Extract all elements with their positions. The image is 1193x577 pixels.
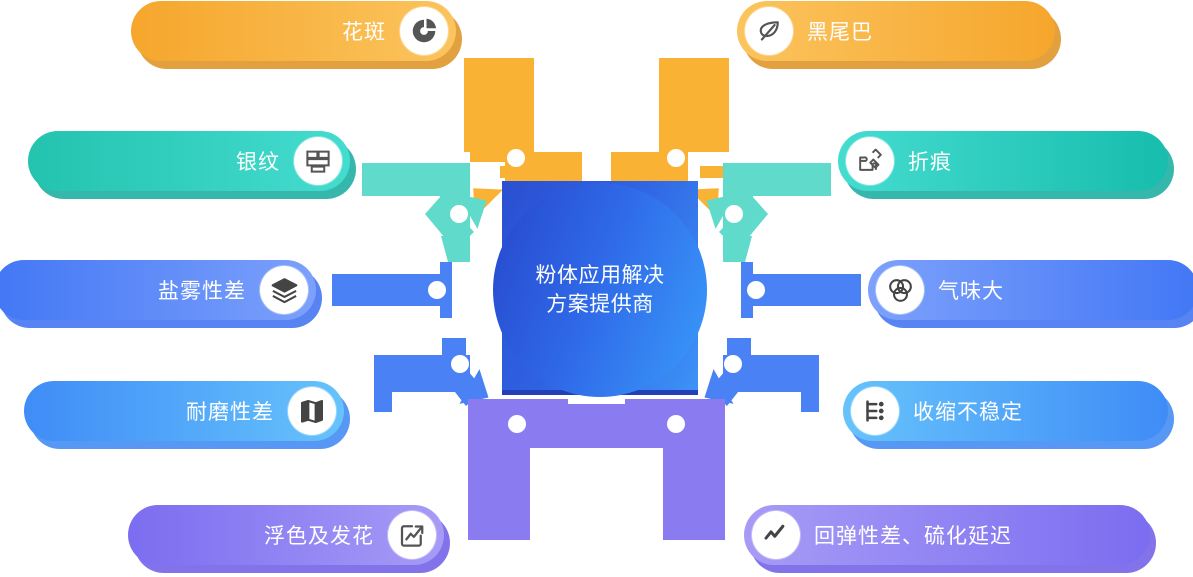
pill-label: 盐雾性差 [158,275,246,305]
pill-right-3[interactable]: 气味大 [868,260,1193,320]
diagram-canvas: 粉体应用解决 方案提供商 花斑 银纹 [0,0,1193,577]
pill-left-4[interactable]: 耐磨性差 [24,381,344,441]
pill-label: 耐磨性差 [186,396,274,426]
connector-bottom-right-purple [589,399,725,540]
pill-right-1[interactable]: 黑尾巴 [737,1,1055,61]
center-label-line1: 粉体应用解决 [536,261,665,290]
pill-body[interactable]: 浮色及发花 [128,505,444,565]
open-book-icon [288,387,336,435]
pill-label: 浮色及发花 [264,520,374,550]
line-chart-icon [752,511,800,559]
pill-label: 收缩不稳定 [913,396,1023,426]
pill-label: 银纹 [236,146,280,176]
pill-label: 折痕 [908,146,952,176]
pill-body[interactable]: 折痕 [838,131,1168,191]
pill-label: 气味大 [938,275,1004,305]
connector-bottom-left-purple [468,399,604,540]
pill-body[interactable]: 花斑 [131,1,456,61]
pill-left-5[interactable]: 浮色及发花 [128,505,444,565]
layers-icon [260,266,308,314]
brick-wall-icon [294,137,342,185]
leaf-icon [745,7,793,55]
trend-up-icon [388,511,436,559]
center-node-label: 粉体应用解决 方案提供商 [493,183,707,397]
pill-left-1[interactable]: 花斑 [131,1,456,61]
pill-label: 黑尾巴 [807,16,873,46]
pill-body[interactable]: 收缩不稳定 [843,381,1168,441]
pill-label: 花斑 [342,16,386,46]
pie-chart-icon [400,7,448,55]
pill-body[interactable]: 黑尾巴 [737,1,1055,61]
pill-right-4[interactable]: 收缩不稳定 [843,381,1168,441]
pill-left-2[interactable]: 银纹 [28,131,350,191]
connector-middle-left-blue [332,262,452,318]
center-label-line2: 方案提供商 [546,290,654,319]
pill-body[interactable]: 耐磨性差 [24,381,344,441]
pill-body[interactable]: 银纹 [28,131,350,191]
pill-right-2[interactable]: 折痕 [838,131,1168,191]
connector-mid-upper-left-teal [362,163,497,262]
pill-left-3[interactable]: 盐雾性差 [0,260,316,320]
connector-middle-right-blue [741,262,861,318]
puzzle-icon [846,137,894,185]
pill-label: 回弹性差、硫化延迟 [814,520,1012,550]
pill-body[interactable]: 气味大 [868,260,1193,320]
sitemap-icon [851,387,899,435]
recycle-icon [876,266,924,314]
pill-body[interactable]: 回弹性差、硫化延迟 [744,505,1150,565]
pill-body[interactable]: 盐雾性差 [0,260,316,320]
pill-right-5[interactable]: 回弹性差、硫化延迟 [744,505,1150,565]
